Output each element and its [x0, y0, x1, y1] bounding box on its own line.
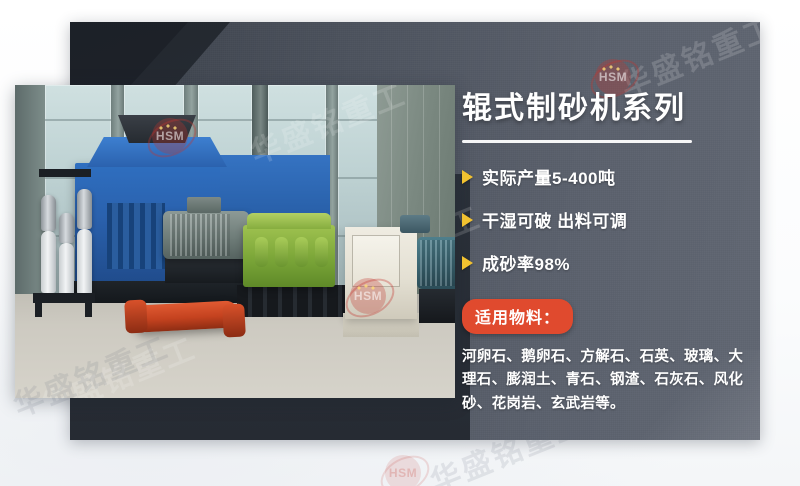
watermark-logo-ring-bottom [374, 448, 436, 486]
gearbox-flange [315, 237, 328, 267]
hydraulic-tank [77, 189, 92, 229]
coupling-hub [222, 303, 246, 337]
tank-frame [33, 293, 95, 303]
title-underline [462, 140, 692, 143]
cabinet-door [352, 235, 400, 287]
poster-canvas: 华盛铭重工 HSM 华盛铭重工 HSM [0, 0, 800, 486]
feature-item: 实际产量5-400吨 [462, 164, 782, 189]
tank-frame-top [39, 169, 91, 177]
hydraulic-tank [59, 243, 74, 297]
hydraulic-tank [59, 213, 74, 243]
motor-cooling-fins [170, 214, 230, 256]
arrow-right-icon [462, 256, 473, 270]
feature-label: 干湿可破 出料可调 [482, 207, 627, 232]
feed-hopper [118, 115, 196, 143]
feature-label: 成砂率98% [482, 250, 570, 275]
feature-item: 干湿可破 出料可调 [462, 207, 782, 232]
materials-badge: 适用物料： [462, 299, 573, 334]
feature-item: 成砂率98% [462, 250, 782, 275]
crusher-base [67, 281, 257, 303]
small-gear-unit [400, 215, 430, 233]
watermark-logo-text-bottom: HSM [380, 466, 426, 480]
materials-text: 河卵石、鹅卵石、方解石、石英、玻璃、大理石、膨润土、青石、钢渣、石灰石、风化砂、… [462, 346, 752, 416]
hydraulic-tank [41, 195, 56, 231]
gearbox-base [237, 285, 345, 317]
page-title: 辊式制砂机系列 [462, 92, 782, 125]
gearbox-cover [247, 213, 331, 229]
coupling-hub [124, 299, 148, 333]
gearbox-flange [255, 237, 268, 267]
feature-label: 实际产量5-400吨 [482, 164, 615, 189]
hydraulic-tank [41, 231, 56, 293]
watermark-logo-bottom: HSM [380, 450, 426, 486]
tank-frame-leg [85, 303, 92, 317]
tank-frame-leg [35, 303, 42, 317]
motor-junction-box [187, 197, 221, 213]
arrow-right-icon [462, 170, 473, 184]
gearbox-flange [275, 237, 288, 267]
motor-base [165, 257, 253, 283]
hydraulic-tank [77, 229, 92, 295]
roller-crusher-ribs [107, 203, 165, 269]
watermark-logo-ball-bottom [385, 455, 421, 486]
gearbox-flange [295, 237, 308, 267]
product-photo: 华盛铭重工 HSM 华盛铭重工 HSM [15, 85, 455, 398]
blue-motor-base [419, 289, 455, 323]
arrow-right-icon [462, 213, 473, 227]
blue-motor-fins [420, 240, 455, 286]
banner-content: 辊式制砂机系列 实际产量5-400吨 干湿可破 出料可调 成砂率98% 适用物料… [462, 92, 782, 416]
feature-list: 实际产量5-400吨 干湿可破 出料可调 成砂率98% [462, 164, 782, 275]
